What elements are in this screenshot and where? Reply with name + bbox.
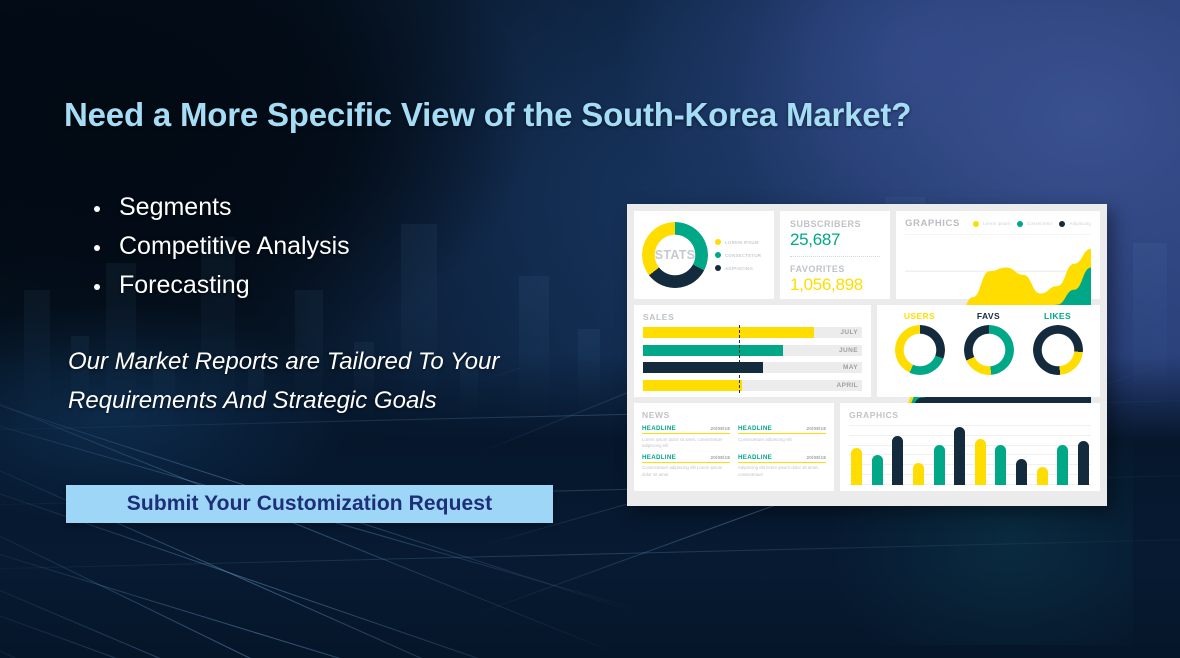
news-date: 20/08/18 <box>711 426 730 431</box>
news-headline: HEADLINE <box>642 454 676 461</box>
news-item-header: HEADLINE20/08/18 <box>642 454 730 463</box>
table-row: JULY <box>643 327 862 338</box>
donut-title: FAVS <box>977 311 1000 321</box>
bar <box>1037 467 1048 485</box>
legend-label: Lorem ipsum <box>983 221 1010 226</box>
legend-dot-icon <box>715 252 721 258</box>
sales-bar <box>643 345 783 356</box>
news-item-header: HEADLINE20/08/18 <box>738 454 826 463</box>
submit-customization-request-button[interactable]: Submit Your Customization Request <box>66 485 553 523</box>
news-card: NEWS HEADLINE20/08/18Lorem ipsum dolor s… <box>634 403 834 491</box>
bar <box>1078 441 1089 485</box>
legend-item: LOREM IPSUM <box>715 239 761 245</box>
sales-chart-title: SALES <box>643 312 862 322</box>
news-date: 20/08/18 <box>807 455 826 460</box>
tagline: Our Market Reports are Tailored To Your … <box>68 342 598 420</box>
legend-item: Adipiscing <box>1059 221 1091 227</box>
bar-chart-title: GRAPHICS <box>849 410 1091 420</box>
sales-chart-card: SALES JULYJUNEMAYAPRIL <box>634 305 871 397</box>
kpi-card: SUBSCRIBERS 25,687 FAVORITES 1,056,898 <box>780 211 890 299</box>
bar <box>954 427 965 485</box>
legend-dot-icon <box>973 221 979 227</box>
sales-bar <box>643 380 742 391</box>
donut-ring <box>895 325 945 375</box>
cta-label: Submit Your Customization Request <box>127 492 492 516</box>
area-chart-card: GRAPHICS Lorem ipsum Consectetur Adipisc… <box>896 211 1100 299</box>
news-body: Lorem ipsum dolor sit amet, consectetuer… <box>642 437 730 449</box>
legend-label: Adipiscing <box>1069 221 1091 226</box>
legend-label: Consectetur <box>1027 221 1052 226</box>
news-item[interactable]: HEADLINE20/08/18Adipiscing elit lorem ip… <box>738 454 826 478</box>
news-list: HEADLINE20/08/18Lorem ipsum dolor sit am… <box>642 425 826 478</box>
donut-ring <box>964 325 1014 375</box>
bar-series <box>849 425 1091 485</box>
favorites-label: FAVORITES <box>790 264 880 274</box>
news-title: NEWS <box>642 410 826 420</box>
legend-item: Consectetur <box>1017 221 1052 227</box>
legend-label: LOREM IPSUM <box>725 240 759 245</box>
donut-row-card: USERSFAVSLIKES <box>877 305 1100 397</box>
stats-center-label: STATS <box>642 222 708 288</box>
sales-month-label: JULY <box>840 327 858 338</box>
bar <box>975 439 986 485</box>
dashboard-graphic: STATS LOREM IPSUM CONSECTETUR ADIPISCING… <box>627 204 1107 506</box>
bar <box>1057 445 1068 485</box>
dashboard-row-3: NEWS HEADLINE20/08/18Lorem ipsum dolor s… <box>634 403 1100 491</box>
subscribers-value: 25,687 <box>790 230 880 250</box>
bar <box>1016 459 1027 485</box>
legend-label: CONSECTETUR <box>725 253 761 258</box>
list-item: Segments <box>92 188 350 227</box>
sales-month-label: JUNE <box>839 345 858 356</box>
sales-bar <box>643 362 763 373</box>
legend-dot-icon <box>1059 221 1065 227</box>
legend-label: ADIPISCING <box>725 266 753 271</box>
donut-group: USERSFAVSLIKES <box>885 311 1092 391</box>
news-item[interactable]: HEADLINE20/08/18Consectetuer adipiscing … <box>642 454 730 478</box>
donut-ring <box>1033 325 1083 375</box>
divider <box>790 256 880 257</box>
sales-target-line <box>739 325 740 393</box>
sales-bar <box>643 327 814 338</box>
area-chart-title: GRAPHICS <box>905 218 960 229</box>
list-item: Competitive Analysis <box>92 227 350 266</box>
news-date: 20/08/18 <box>807 426 826 431</box>
legend-item: ADIPISCING <box>715 265 761 271</box>
donut-item: FAVS <box>964 311 1014 375</box>
bar <box>851 448 862 485</box>
legend-dot-icon <box>715 265 721 271</box>
area-chart-legend: Lorem ipsum Consectetur Adipiscing <box>973 221 1091 227</box>
table-row: APRIL <box>643 380 862 391</box>
area-chart-header: GRAPHICS Lorem ipsum Consectetur Adipisc… <box>905 218 1091 229</box>
stats-legend: LOREM IPSUM CONSECTETUR ADIPISCING <box>715 239 761 271</box>
donut-item: LIKES <box>1033 311 1083 375</box>
tagline-line-2: Requirements And Strategic Goals <box>68 381 598 420</box>
news-body: Consectetuer adipiscing elit <box>738 437 826 443</box>
page-title: Need a More Specific View of the South-K… <box>64 96 1094 134</box>
news-date: 20/08/18 <box>711 455 730 460</box>
news-headline: HEADLINE <box>738 425 772 432</box>
bar <box>892 436 903 485</box>
bar <box>872 455 883 485</box>
news-item[interactable]: HEADLINE20/08/18Consectetuer adipiscing … <box>738 425 826 449</box>
sales-chart-plot: JULYJUNEMAYAPRIL <box>643 327 862 391</box>
news-item[interactable]: HEADLINE20/08/18Lorem ipsum dolor sit am… <box>642 425 730 449</box>
favorites-value: 1,056,898 <box>790 275 880 295</box>
donut-title: LIKES <box>1044 311 1071 321</box>
hero-content: Need a More Specific View of the South-K… <box>0 0 620 658</box>
donut-item: USERS <box>895 311 945 375</box>
table-row: JUNE <box>643 345 862 356</box>
bar-chart-card: GRAPHICS <box>840 403 1100 491</box>
dashboard-row-2: SALES JULYJUNEMAYAPRIL USERSFAVSLIKES <box>634 305 1100 397</box>
feature-list: Segments Competitive Analysis Forecastin… <box>92 188 350 305</box>
news-headline: HEADLINE <box>642 425 676 432</box>
legend-dot-icon <box>1017 221 1023 227</box>
bar <box>995 445 1006 485</box>
news-item-header: HEADLINE20/08/18 <box>642 425 730 434</box>
donut-title: USERS <box>904 311 935 321</box>
legend-dot-icon <box>715 239 721 245</box>
sales-bars: JULYJUNEMAYAPRIL <box>643 327 862 391</box>
legend-item: CONSECTETUR <box>715 252 761 258</box>
subscribers-label: SUBSCRIBERS <box>790 219 880 229</box>
news-body: Adipiscing elit lorem ipsum dolor sit am… <box>738 465 826 477</box>
dashboard-row-1: STATS LOREM IPSUM CONSECTETUR ADIPISCING… <box>634 211 1100 299</box>
stats-donut-card: STATS LOREM IPSUM CONSECTETUR ADIPISCING <box>634 211 774 299</box>
news-headline: HEADLINE <box>738 454 772 461</box>
list-item: Forecasting <box>92 266 350 305</box>
bar <box>934 445 945 485</box>
bar <box>913 463 924 485</box>
stats-donut-chart: STATS <box>642 222 708 288</box>
news-item-header: HEADLINE20/08/18 <box>738 425 826 434</box>
legend-item: Lorem ipsum <box>973 221 1010 227</box>
news-body: Consectetuer adipiscing elit Lorem ipsum… <box>642 465 730 477</box>
tagline-line-1: Our Market Reports are Tailored To Your <box>68 342 598 381</box>
table-row: MAY <box>643 362 862 373</box>
bar-chart-plot <box>849 425 1091 485</box>
sales-month-label: APRIL <box>837 380 859 391</box>
sales-month-label: MAY <box>843 362 858 373</box>
